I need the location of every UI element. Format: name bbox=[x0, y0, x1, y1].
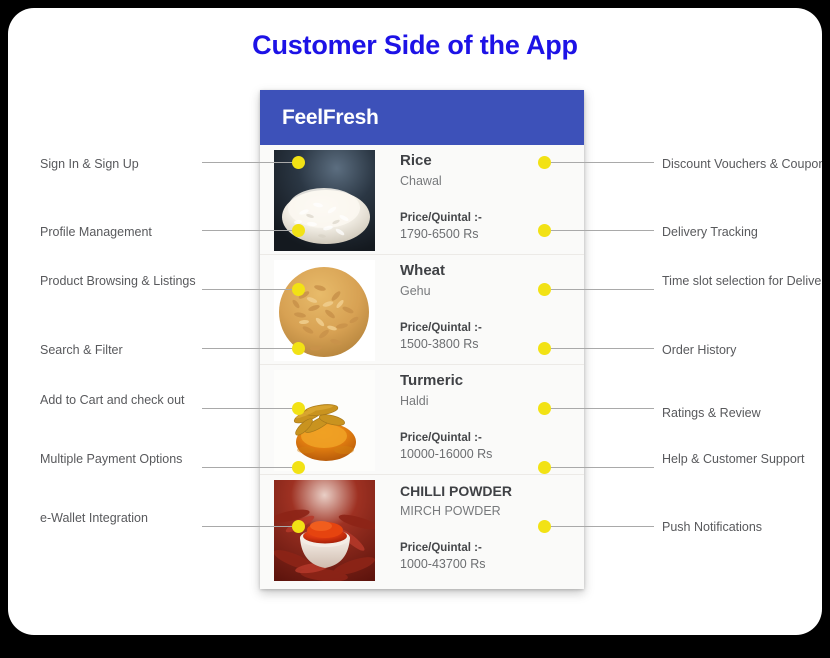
slide-card: Customer Side of the App FeelFresh bbox=[8, 8, 822, 635]
list-item[interactable]: Turmeric Haldi Price/Quintal :- 10000-16… bbox=[260, 365, 584, 475]
callout-dot bbox=[538, 461, 551, 474]
leader-line bbox=[551, 348, 654, 349]
list-item[interactable]: CHILLI POWDER MIRCH POWDER Price/Quintal… bbox=[260, 475, 584, 585]
leader-line bbox=[202, 348, 294, 349]
price-label: Price/Quintal :- bbox=[400, 210, 576, 226]
callout-right-help-customer-support: Help & Customer Support bbox=[662, 450, 822, 468]
product-thumbnail-turmeric bbox=[274, 370, 375, 471]
callout-dot bbox=[538, 342, 551, 355]
page-title: Customer Side of the App bbox=[8, 30, 822, 61]
callout-dot bbox=[538, 520, 551, 533]
product-local-name: MIRCH POWDER bbox=[400, 502, 576, 520]
leader-line bbox=[551, 230, 654, 231]
callout-dot bbox=[292, 520, 305, 533]
price-label: Price/Quintal :- bbox=[400, 320, 576, 336]
price-range: 1000-43700 Rs bbox=[400, 556, 576, 573]
product-name: Wheat bbox=[400, 261, 576, 281]
leader-line bbox=[551, 526, 654, 527]
leader-line bbox=[551, 162, 654, 163]
product-info: Turmeric Haldi Price/Quintal :- 10000-16… bbox=[400, 371, 576, 463]
callout-left-e-wallet-integration: e-Wallet Integration bbox=[40, 509, 215, 527]
callout-dot bbox=[538, 283, 551, 296]
callout-right-push-notifications: Push Notifications bbox=[662, 518, 822, 536]
callout-left-product-browsing-listings: Product Browsing & Listings bbox=[40, 272, 215, 290]
callout-dot bbox=[538, 402, 551, 415]
callout-dot bbox=[538, 156, 551, 169]
callout-left-sign-in-sign-up: Sign In & Sign Up bbox=[40, 155, 215, 173]
callout-dot bbox=[538, 224, 551, 237]
leader-line bbox=[551, 289, 654, 290]
callout-dot bbox=[292, 461, 305, 474]
leader-line bbox=[202, 408, 294, 409]
callout-right-discount-vouchers-coupons: Discount Vouchers & Coupons bbox=[662, 155, 822, 173]
price-label: Price/Quintal :- bbox=[400, 540, 576, 556]
leader-line bbox=[551, 467, 654, 468]
product-name: Turmeric bbox=[400, 371, 576, 391]
callout-right-ratings-review: Ratings & Review bbox=[662, 404, 822, 422]
leader-line bbox=[202, 289, 294, 290]
product-thumbnail-rice bbox=[274, 150, 375, 251]
product-name: CHILLI POWDER bbox=[400, 481, 576, 501]
leader-line bbox=[202, 467, 294, 468]
callout-dot bbox=[292, 283, 305, 296]
callout-right-order-history: Order History bbox=[662, 341, 822, 359]
product-local-name: Chawal bbox=[400, 172, 576, 190]
price-range: 10000-16000 Rs bbox=[400, 446, 576, 463]
callout-left-multiple-payment-options: Multiple Payment Options bbox=[40, 450, 215, 468]
callout-left-add-to-cart-and-check-out: Add to Cart and check out bbox=[40, 391, 215, 409]
product-list: Rice Chawal Price/Quintal :- 1790-6500 R… bbox=[260, 145, 584, 585]
leader-line bbox=[202, 526, 294, 527]
leader-line bbox=[202, 162, 294, 163]
callout-left-search-filter: Search & Filter bbox=[40, 341, 215, 359]
list-item[interactable]: Rice Chawal Price/Quintal :- 1790-6500 R… bbox=[260, 145, 584, 255]
callout-right-delivery-tracking: Delivery Tracking bbox=[662, 223, 822, 241]
phone-mockup: FeelFresh bbox=[260, 90, 584, 589]
leader-line bbox=[202, 230, 294, 231]
product-thumbnail-chilli-powder bbox=[274, 480, 375, 581]
callout-right-time-slot-selection-for-delivery: Time slot selection for Delivery bbox=[662, 272, 822, 290]
price-label: Price/Quintal :- bbox=[400, 430, 576, 446]
callout-left-profile-management: Profile Management bbox=[40, 223, 215, 241]
app-bar: FeelFresh bbox=[260, 90, 584, 145]
app-brand-title: FeelFresh bbox=[282, 106, 379, 130]
callout-dot bbox=[292, 342, 305, 355]
list-item[interactable]: Wheat Gehu Price/Quintal :- 1500-3800 Rs bbox=[260, 255, 584, 365]
callout-dot bbox=[292, 156, 305, 169]
product-info: Wheat Gehu Price/Quintal :- 1500-3800 Rs bbox=[400, 261, 576, 353]
callout-dot bbox=[292, 224, 305, 237]
leader-line bbox=[551, 408, 654, 409]
callout-dot bbox=[292, 402, 305, 415]
product-thumbnail-wheat bbox=[274, 260, 375, 361]
